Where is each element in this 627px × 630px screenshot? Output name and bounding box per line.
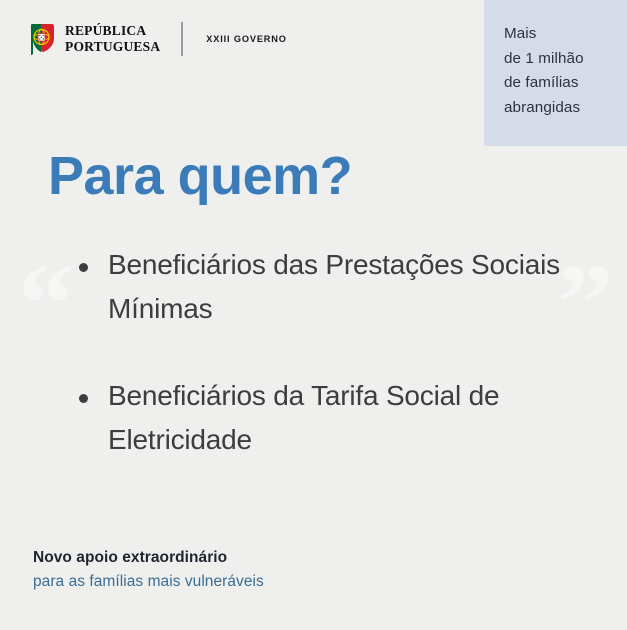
decorative-quote-left-icon: “: [18, 248, 74, 360]
highlight-panel: Mais de 1 milhão de famílias abrangidas: [484, 0, 627, 146]
footer-caption: Novo apoio extraordinário para as famíli…: [33, 546, 264, 594]
brand-wordmark: REPÚBLICA PORTUGUESA: [65, 23, 160, 54]
list-item-label: Beneficiários da Tarifa Social de Eletri…: [108, 380, 499, 455]
highlight-line-4: abrangidas: [504, 96, 627, 121]
eligibility-list: Beneficiários das Prestações Sociais Mín…: [76, 243, 596, 462]
portugal-coat-of-arms-icon: [30, 23, 56, 56]
bullet-dot-icon: [79, 263, 88, 272]
footer-line-secondary: para as famílias mais vulneráveis: [33, 570, 264, 594]
highlight-line-1: Mais: [504, 22, 627, 47]
list-item: Beneficiários da Tarifa Social de Eletri…: [76, 374, 596, 461]
brand-line-portuguesa: PORTUGUESA: [65, 39, 160, 55]
brand-divider: [181, 22, 183, 56]
government-label: XXIII GOVERNO: [206, 34, 286, 44]
highlight-line-2: de 1 milhão: [504, 47, 627, 72]
footer-line-primary: Novo apoio extraordinário: [33, 546, 264, 570]
poster-canvas: “ ” REPÚBLICA PORTUGUESA XXIII GOVERNO M…: [0, 0, 627, 630]
highlight-line-3: de famílias: [504, 71, 627, 96]
page-title: Para quem?: [48, 148, 352, 205]
list-item: Beneficiários das Prestações Sociais Mín…: [76, 243, 596, 330]
bullet-dot-icon: [79, 394, 88, 403]
list-item-label: Beneficiários das Prestações Sociais Mín…: [108, 249, 560, 324]
brand-line-republica: REPÚBLICA: [65, 23, 160, 39]
brand-lockup: REPÚBLICA PORTUGUESA XXIII GOVERNO: [30, 21, 287, 57]
